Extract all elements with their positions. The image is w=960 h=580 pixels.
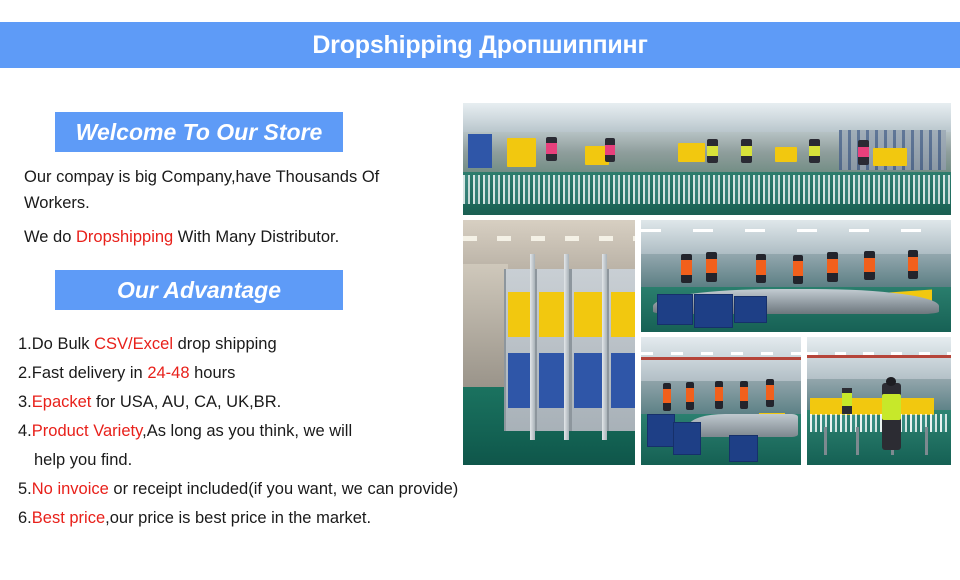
list-item-suffix: hours [190,364,236,382]
blue-crate [657,294,693,325]
advantage-section-banner: Our Advantage [55,270,343,310]
intro-line-3-suffix: With Many Distributor. [173,228,339,246]
blue-crate [694,294,733,327]
worker-figure [908,250,919,279]
conveyor-leg [856,427,859,455]
list-item-suffix: or receipt included(if you want, we can … [109,480,458,498]
list-item-suffix: ,our price is best price in the market. [105,509,371,527]
ceiling-band [641,220,951,254]
conveyor-leg [824,427,827,455]
yellow-bin [873,148,907,166]
worker-figure [809,139,820,164]
blue-crate [734,296,767,323]
list-item-number: 2. [18,364,32,382]
welcome-banner-label: Welcome To Our Store [76,119,323,146]
intro-line-2-text: Workers. [24,194,90,212]
warehouse-photo-collage [463,103,951,465]
list-item-suffix: for USA, AU, CA, UK,BR. [91,393,281,411]
intro-line-2: Workers. [24,190,460,216]
yellow-bin [775,147,797,163]
rack-upright [602,254,607,440]
page-title: Dropshipping Дропшиппинг [312,31,647,60]
worker-figure [864,251,875,280]
worker-figure [741,139,752,164]
left-content-column: Welcome To Our Store Our compay is big C… [0,68,462,580]
intro-line-1-text: Our compay is big Company,have Thousands… [24,168,379,186]
list-item-number: 3. [18,393,32,411]
list-item-prefix: Fast delivery in [32,364,148,382]
worker-figure [546,137,557,162]
intro-line-3: We do Dropshipping With Many Distributor… [24,224,460,250]
intro-line-3-highlight: Dropshipping [76,228,173,246]
yellow-bin [678,143,705,162]
ceiling-pipe [641,357,801,360]
rack-upright [564,254,569,440]
worker-figure [793,255,804,284]
worker-figure [715,381,723,409]
intro-line-3-prefix: We do [24,228,76,246]
warehouse-racking-aisle-photo [463,220,635,465]
worker-figure [740,381,748,409]
blue-crate [673,422,701,455]
list-item-highlight: CSV/Excel [94,335,173,353]
rack-upright [530,254,535,440]
racking-bay [607,269,635,431]
aisle-wall [463,264,508,387]
worker-green-vest-yellow-bins-photo [807,337,951,465]
worker-figure [706,252,717,281]
packing-hall-photo [641,337,801,465]
yellow-bin [507,138,536,167]
worker-figure [681,254,692,283]
worker-figure [827,252,838,281]
worker-figure [707,139,718,164]
worker-figure [842,388,852,414]
worker-figure [858,140,869,165]
yellow-bin-row [810,398,934,415]
list-item-highlight: Epacket [32,393,92,411]
ceiling-band [463,103,951,132]
worker-figure [766,379,774,407]
list-item: 5.No invoice or receipt included(if you … [18,475,618,504]
advantage-banner-label: Our Advantage [117,277,281,304]
ceiling-band [807,337,951,379]
list-item-number: 6. [18,509,32,527]
list-item-prefix: Do Bulk [32,335,94,353]
worker-figure-green-vest [882,383,901,450]
list-item-suffix: drop shipping [173,335,277,353]
list-item-highlight: No invoice [32,480,109,498]
conveyor-leg [925,427,928,455]
ceiling-pipe [807,355,951,358]
blue-crate [647,414,675,447]
blue-crate [729,435,758,463]
list-item-highlight: 24-48 [147,364,189,382]
warehouse-panorama-conveyors-photo [463,103,951,215]
list-item: 6.Best price,our price is best price in … [18,504,618,533]
worker-figure [605,138,616,163]
list-item-highlight: Product Variety [32,422,142,440]
list-item-highlight: Best price [32,509,105,527]
worker-figure [663,383,671,411]
list-item-number: 5. [18,480,32,498]
conveyor-belt [689,414,798,437]
list-item-number: 1. [18,335,32,353]
welcome-section-banner: Welcome To Our Store [55,112,343,152]
list-item-suffix: ,As long as you think, we will [142,422,352,440]
intro-paragraph: Our compay is big Company,have Thousands… [24,164,460,250]
blue-door [468,134,492,168]
roller-conveyor [463,175,951,204]
intro-line-1: Our compay is big Company,have Thousands… [24,164,460,190]
worker-figure [756,254,767,283]
sorting-line-orange-vests-photo [641,220,951,332]
header-bar: Dropshipping Дропшиппинг [0,22,960,68]
list-item-number: 4. [18,422,32,440]
worker-figure [686,382,694,410]
